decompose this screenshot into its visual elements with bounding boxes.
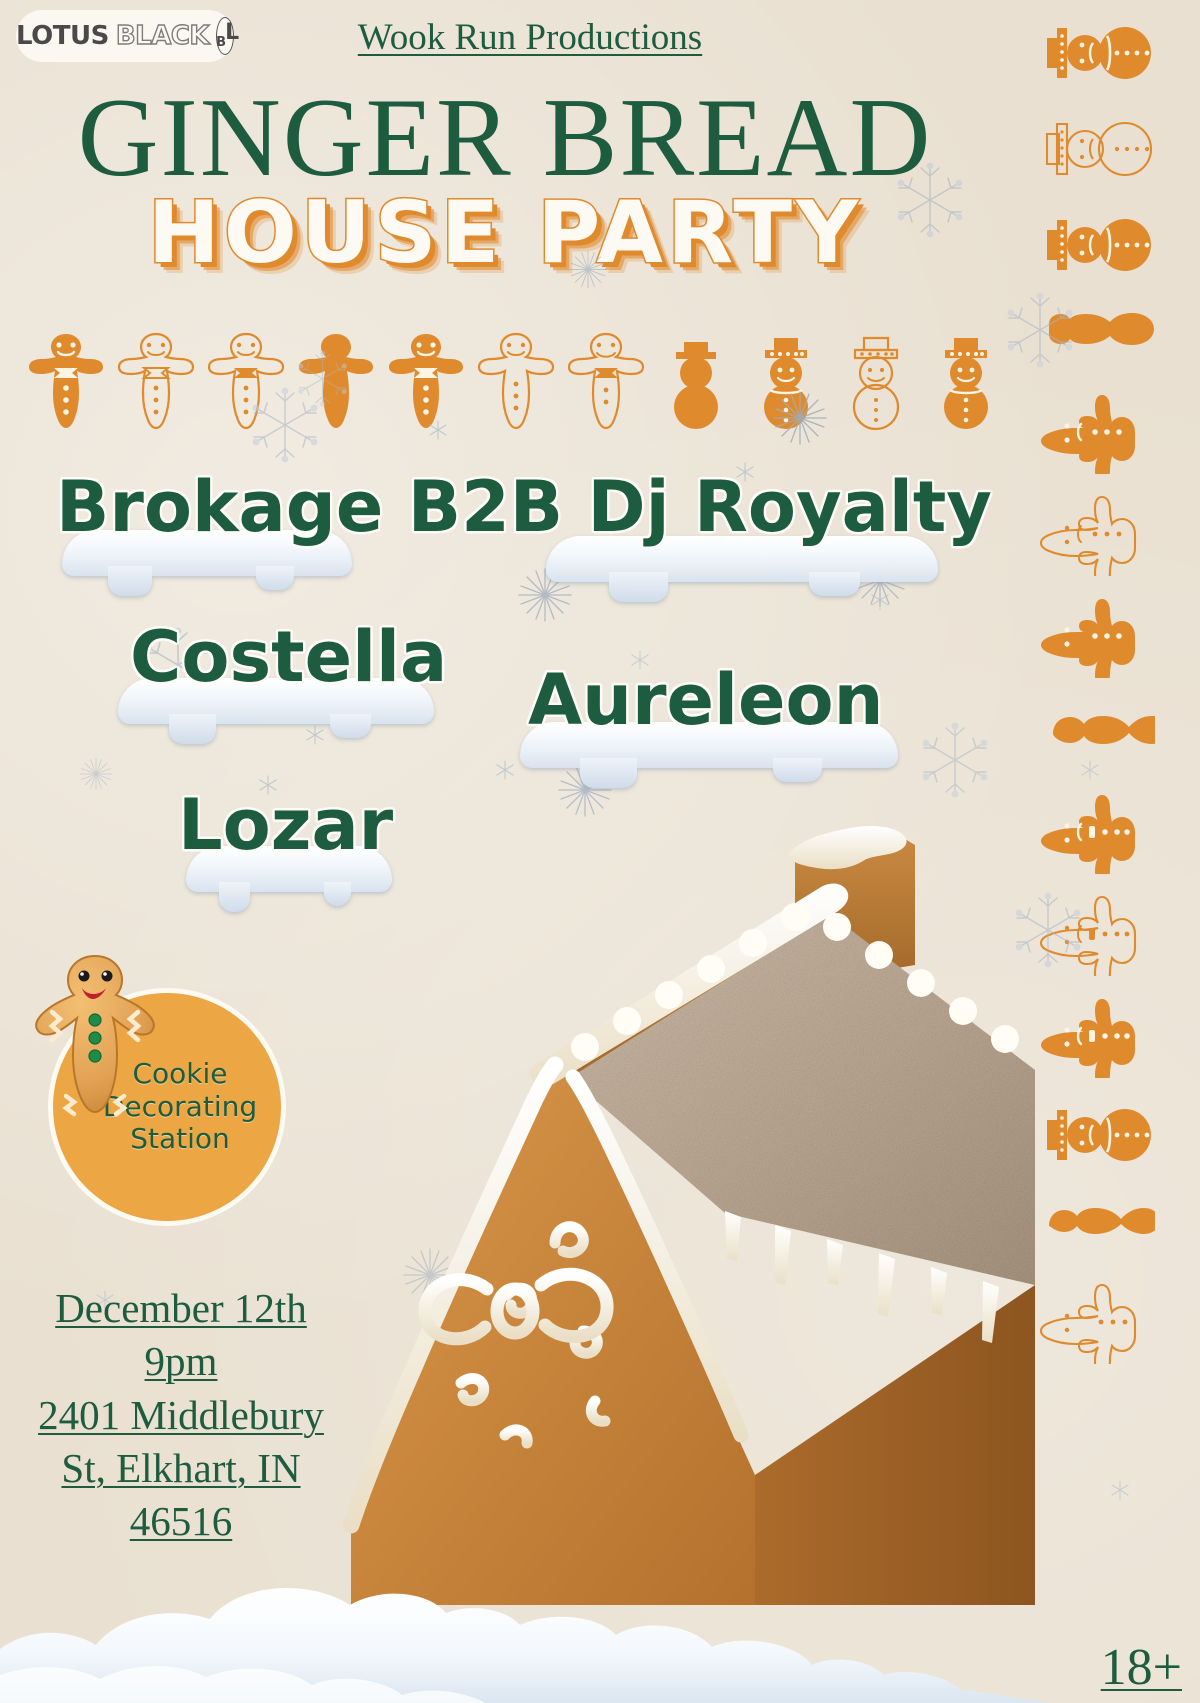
snowman-rotated-filled-icon [1037,1096,1155,1174]
gingerbread-man-outline-icon [114,328,198,432]
logo-black-text: BLACK [116,21,209,51]
poster-title-line1: GINGER BREAD [0,82,1010,194]
gingerbread-man-rotated-outline-icon [1037,1280,1155,1364]
lineup-artist-4: Lozar [178,790,393,860]
cookie-decoration-strip [24,322,964,432]
lineup-artist-3: Aureleon [528,665,883,735]
lotus-black-logo[interactable]: LOTUS BLACK L B [16,10,234,62]
gingerbread-silhouette-icon [1037,302,1155,372]
gingerbread-man-rotated-outline-icon [1037,492,1155,576]
monogram-l: L [225,22,239,44]
snowman-rotated-filled-icon [1037,206,1155,284]
age-restriction-label: 18+ [1101,1638,1182,1697]
gingerbread-man-filled-icon [384,328,468,432]
gingerbread-man-rotated-filled-icon [1037,790,1155,874]
snowman-outline-icon [834,328,918,432]
gingerbread-silhouette-icon [1037,696,1155,772]
event-address-line1: 2401 Middlebury [16,1389,346,1442]
snowman-rotated-outline-icon [1037,110,1155,188]
gingerbread-man-rotated-outline-icon [1037,892,1155,976]
snowman-rotated-filled-icon [1037,14,1155,92]
logo-lotus-text: LOTUS [16,21,109,51]
snow-bank-icon [0,1553,1050,1703]
gingerbread-man-filled-icon [24,328,108,432]
gingerbread-house-illustration [255,815,1035,1605]
snowman-filled-icon [654,328,738,432]
gingerbread-man-rotated-filled-icon [1037,390,1155,474]
lineup-artist-1: Brokage B2B Dj Royalty [56,472,992,542]
event-date: December 12th [16,1282,346,1335]
gingerbread-man-rotated-filled-icon [1037,994,1155,1078]
gingerbread-silhouette-icon [1037,1192,1155,1262]
monogram-b: B [216,36,226,49]
badge-line-3: Station [130,1123,230,1155]
poster-title-line2: HOUSE PARTY [0,190,1010,276]
gingerbread-silhouette-icon [294,328,378,432]
event-poster: LOTUS BLACK L B Wook Run Productions GIN… [0,0,1200,1703]
event-details: December 12th 9pm 2401 Middlebury St, El… [16,1282,346,1548]
snowman-filled-icon [744,328,828,432]
lineup-artist-2: Costella [130,622,447,692]
event-time: 9pm [16,1335,346,1388]
event-address-line2: St, Elkhart, IN [16,1442,346,1495]
logo-monogram-icon: L B [216,17,234,55]
presenter-name: Wook Run Productions [270,16,790,59]
gingerbread-man-rotated-filled-icon [1037,594,1155,678]
gingerbread-man-outline-icon [564,328,648,432]
gingerbread-man-mascot-icon [30,950,160,1125]
gingerbread-man-outline-icon [204,328,288,432]
event-address-line3: 46516 [16,1495,346,1548]
gingerbread-man-outline-icon [474,328,558,432]
